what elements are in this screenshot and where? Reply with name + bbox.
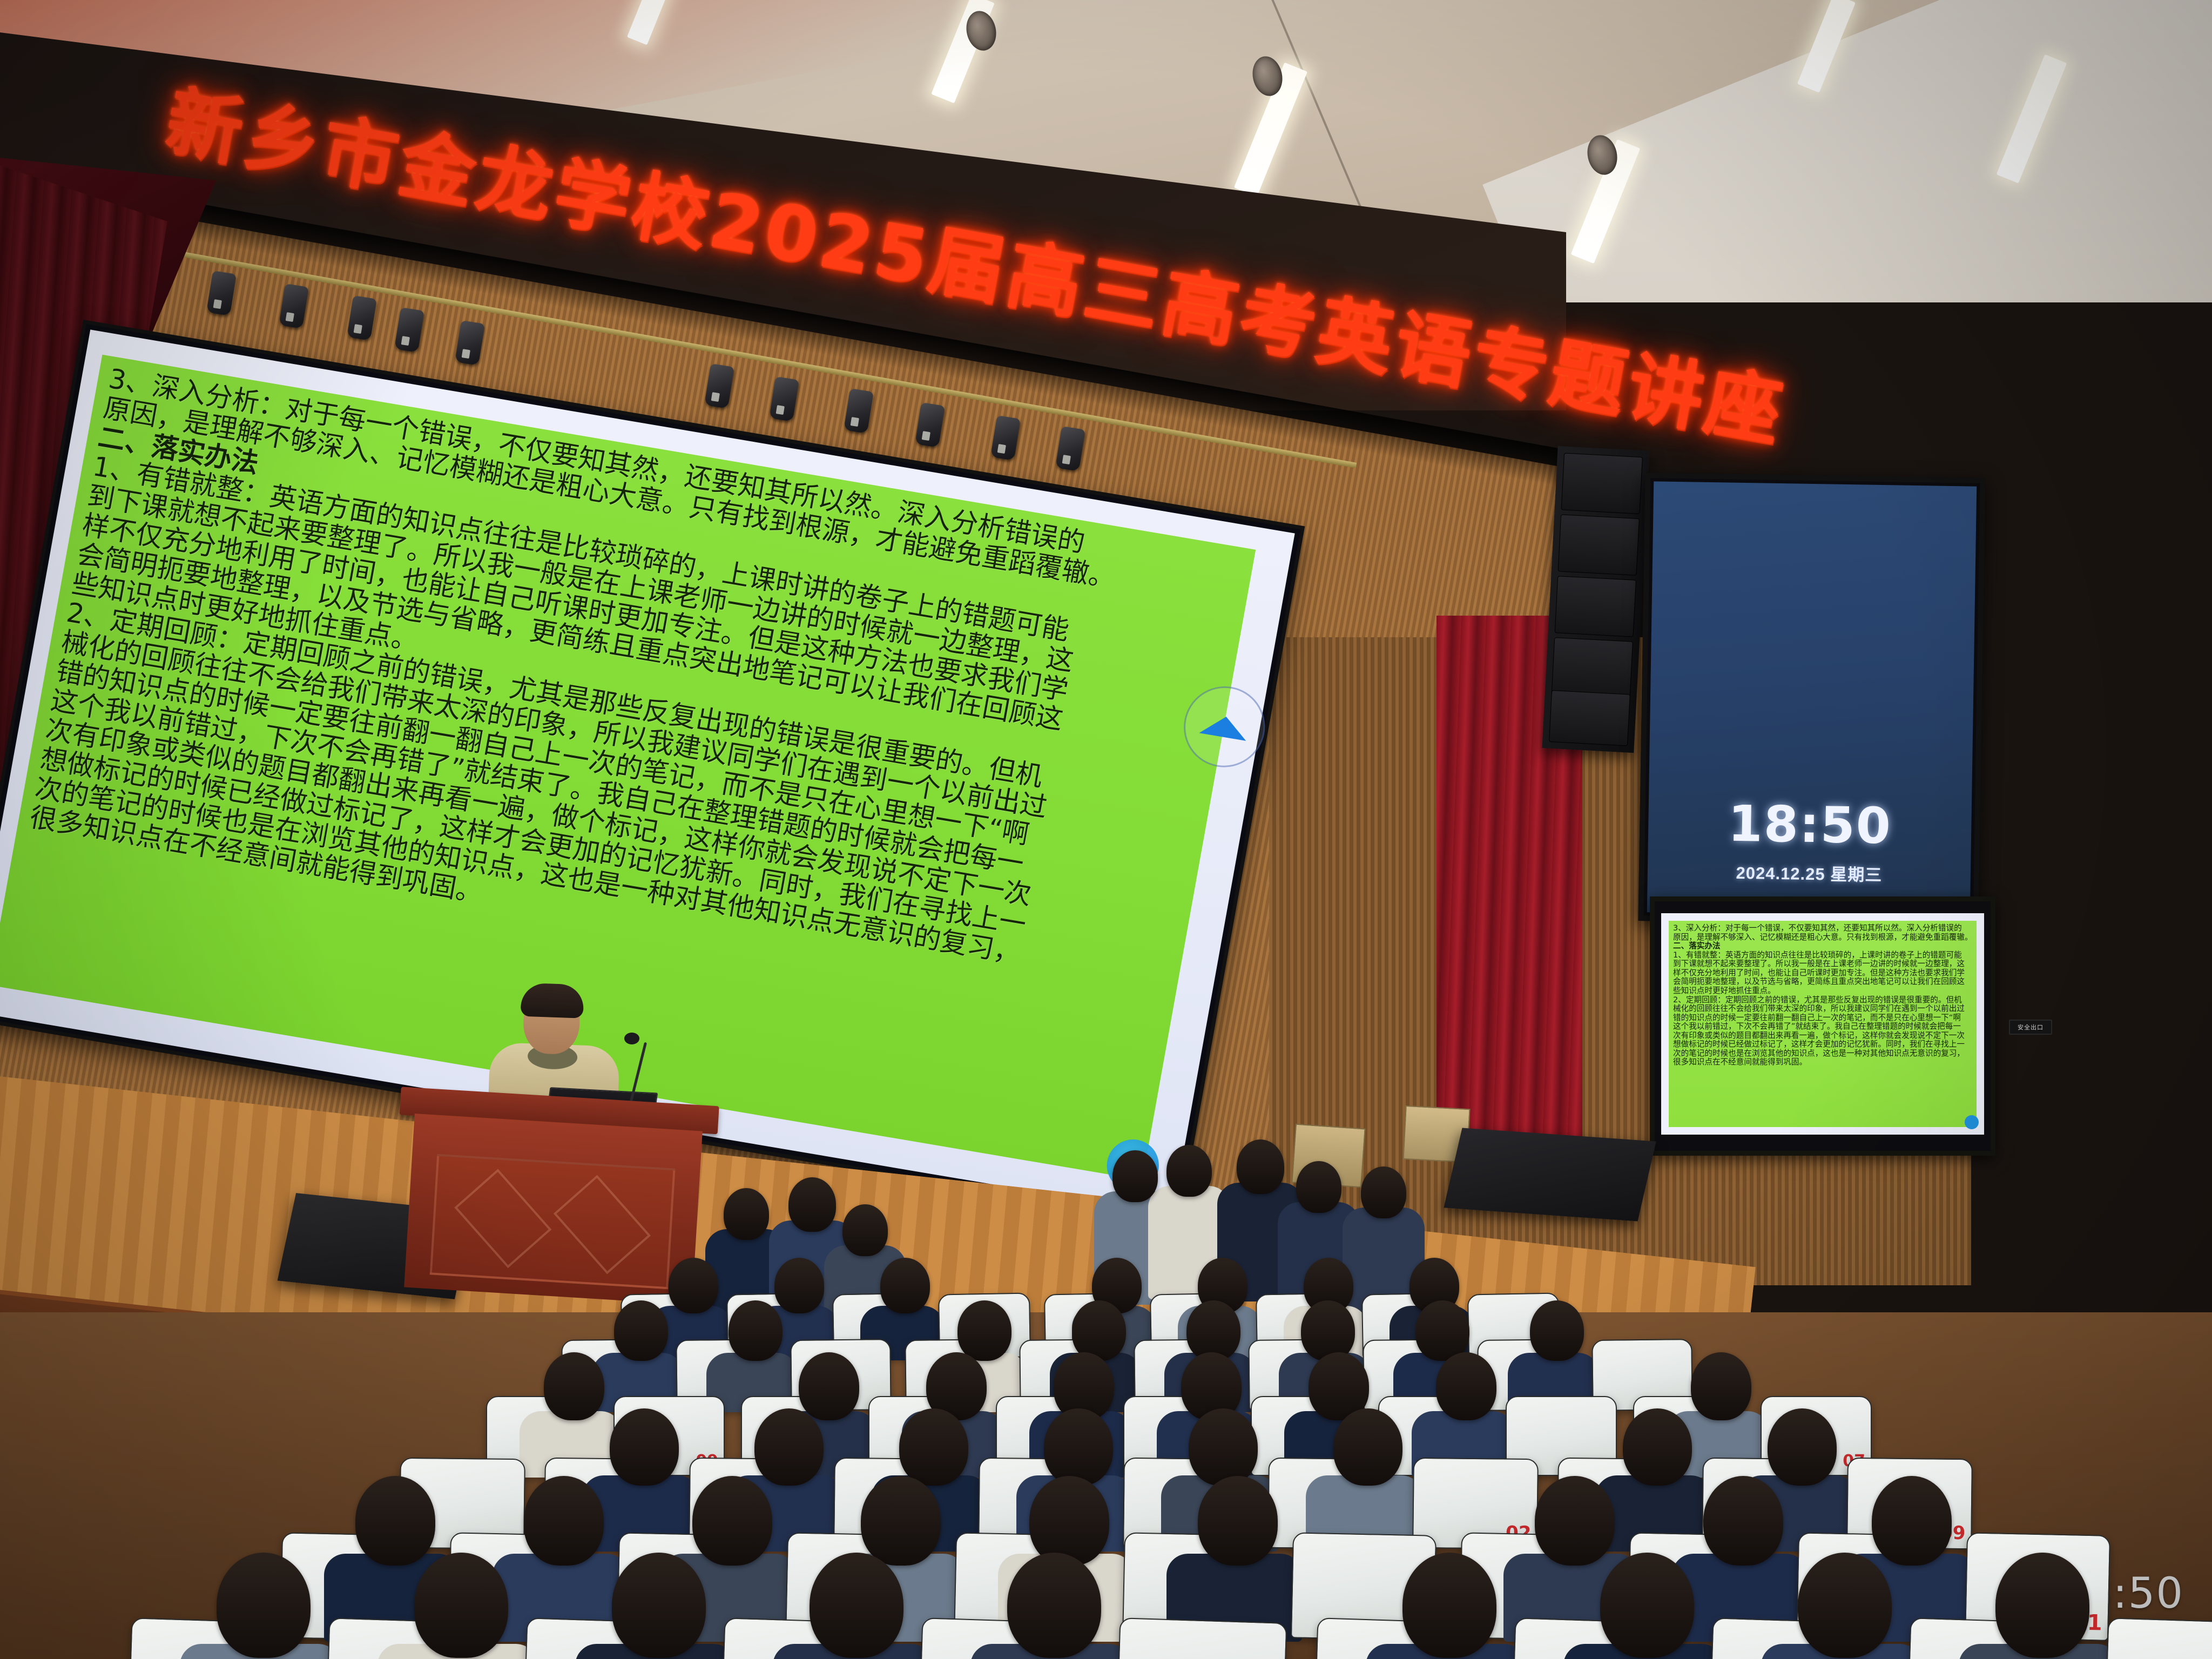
audience-member-head <box>1535 1476 1615 1566</box>
audience-member-head <box>414 1553 508 1658</box>
standing-student-head <box>788 1177 836 1232</box>
mirror-slide-line: 这个我以前错过，下次不会再错了”就结束了。我自己在整理错题的时候就会把每一 <box>1673 1022 1972 1031</box>
mirror-slide-line: 械化的回顾往往不会给我们带来太深的印象，所以我建议同学们在遇到一个以前出过 <box>1673 1004 1972 1014</box>
audience-member-head <box>1186 1300 1240 1361</box>
graduation-cap-shape <box>1199 713 1250 741</box>
audience-member-head <box>1007 1553 1101 1658</box>
audience-member-head <box>1415 1300 1469 1361</box>
mirror-slide-line: 2、定期回顾：定期回顾之前的错误，尤其是那些反复出现的错误是很重要的。但机 <box>1673 996 1972 1005</box>
audience-member-head <box>774 1258 824 1313</box>
mirror-slide-line: 错的知识点的时候一定要往前翻一翻自己上一次的笔记，而不是只在心里想一下“啊 <box>1673 1014 1972 1023</box>
microphone-icon <box>624 1033 639 1044</box>
mirror-slide-line: 很多知识点在不经意间就能得到巩固。 <box>1673 1058 1972 1067</box>
audience-seat[interactable]: 02 <box>2105 1617 2212 1659</box>
secondary-slide-monitor[interactable]: 3、深入分析：对于每一个错误，不仅要知其然，还要知其所以然。深入分析错误的原因，… <box>1650 896 1995 1156</box>
audience-seat[interactable] <box>1116 1617 1287 1659</box>
line-array-speaker <box>1542 446 1649 753</box>
audience-member-head <box>1436 1352 1496 1420</box>
side-display-monitor[interactable]: 18:50 2024.12.25 星期三 <box>1638 473 1986 926</box>
mirror-slide-line: 3、深入分析：对于每一个错误，不仅要知其然，还要知其所以然。深入分析错误的 <box>1673 924 1972 933</box>
podium-diamond-left <box>454 1169 551 1268</box>
audience-member-head <box>614 1300 668 1361</box>
audience-member-head <box>1623 1408 1692 1486</box>
audience-member-head <box>217 1553 311 1658</box>
clock-date: 2024.12.25 星期三 <box>1736 859 1882 886</box>
audience-member-head <box>1600 1553 1694 1658</box>
audience-member-head <box>1768 1408 1837 1486</box>
audience-member-head <box>355 1476 435 1566</box>
podium-panel <box>430 1154 676 1290</box>
monitor-screen: 18:50 2024.12.25 星期三 <box>1647 481 1977 917</box>
standing-student-head <box>842 1204 888 1256</box>
mirror-slide-line: 样不仅充分地利用了时间，也能让自己听课时更加专注。但是这种方法也要求我们学 <box>1673 969 1972 978</box>
mirror-slide-line: 次的笔记的时候也是在浏览其他的知识点，这也是一种对其他知识点无意识的复习， <box>1673 1049 1972 1058</box>
standing-student-head <box>1237 1139 1284 1194</box>
audience-member-head <box>524 1476 604 1566</box>
audience-member-head <box>1189 1408 1258 1486</box>
podium-diamond-right <box>554 1175 651 1274</box>
floor-monitor-speaker <box>1444 1128 1656 1221</box>
mirror-slide-line: 次有印象或类似的题目都翻出来再看一遍，做个标记，这样你就会发现说不定下一次 <box>1673 1031 1972 1041</box>
audience-member-head <box>880 1258 930 1313</box>
audience-member-head <box>1872 1476 1952 1566</box>
audience-member-head <box>1333 1408 1402 1486</box>
audience-member-head <box>1691 1352 1751 1420</box>
audience-member-head <box>1198 1476 1278 1566</box>
mirror-slide-line: 会简明扼要地整理，以及节选与省略，更简练且重点突出地笔记可以让我们在回顾这 <box>1673 977 1972 987</box>
audience-member-head <box>1029 1476 1109 1566</box>
standing-student-head <box>724 1188 769 1240</box>
audience-member-head <box>612 1553 706 1658</box>
mirror-slide-line: 到下课就想不起来要整理了。所以我一般是在上课老师一边讲的时候就一边整理，这 <box>1673 960 1972 969</box>
clock-time: 18:50 <box>1728 795 1892 855</box>
audience-member-head <box>1301 1300 1355 1361</box>
audience-member-head <box>1402 1553 1496 1658</box>
standing-student-head <box>1112 1150 1158 1202</box>
mirror-slide-line: 原因，是理解不够深入、记忆模糊还是粗心大意。只有找到根源，才能避免重蹈覆辙。 <box>1673 933 1972 942</box>
audience-member-head <box>544 1352 604 1420</box>
audience-member-head <box>729 1300 783 1361</box>
audience-member-head <box>1703 1476 1783 1566</box>
audience-member-head <box>1530 1300 1584 1361</box>
mirror-slide-line: 些知识点时更好地抓住重点。 <box>1673 987 1972 996</box>
standing-student-head <box>1296 1161 1341 1213</box>
audience-member-head <box>799 1352 859 1420</box>
mirror-slide-badge <box>1965 1115 1979 1129</box>
audience-member-head <box>1072 1300 1126 1361</box>
audience-member-head <box>610 1408 679 1486</box>
mirror-slide-line: 想做标记的时候已经做过标记了，这样才会更加的记忆犹新。同时，我们在寻找上一 <box>1673 1040 1972 1049</box>
standing-student-head <box>1361 1166 1406 1218</box>
audience-member-head <box>899 1408 968 1486</box>
audience-member-head <box>1798 1553 1892 1658</box>
audience-member-head <box>669 1258 718 1313</box>
mirror-slide-content: 3、深入分析：对于每一个错误，不仅要知其然，还要知其所以然。深入分析错误的原因，… <box>1669 921 1977 1127</box>
audience-member-head <box>1044 1408 1113 1486</box>
audience-member-head <box>1995 1553 2089 1658</box>
exit-sign: 安全出口 <box>2009 1020 2052 1035</box>
audience-member-head <box>957 1300 1011 1361</box>
mirror-screen-surface: 3、深入分析：对于每一个错误，不仅要知其然，还要知其所以然。深入分析错误的原因，… <box>1661 913 1984 1135</box>
audience-member-head <box>861 1476 941 1566</box>
audience-member-head <box>692 1476 772 1566</box>
audience-member-head <box>754 1408 824 1486</box>
mirror-slide-line: 二、落实办法 <box>1673 942 1972 951</box>
standing-student-head <box>1166 1145 1212 1197</box>
auditorium-photo: 新乡市金龙学校2025届高三高考英语专题讲座 3、深入分析：对于每一个错误，不仅… <box>0 0 2212 1659</box>
audience-member-head <box>810 1553 903 1658</box>
mirror-slide-line: 1、有错就整：英语方面的知识点往往是比较琐碎的，上课时讲的卷子上的错题可能 <box>1673 951 1972 960</box>
speaking-podium <box>396 1087 711 1305</box>
podium-body <box>404 1114 703 1305</box>
